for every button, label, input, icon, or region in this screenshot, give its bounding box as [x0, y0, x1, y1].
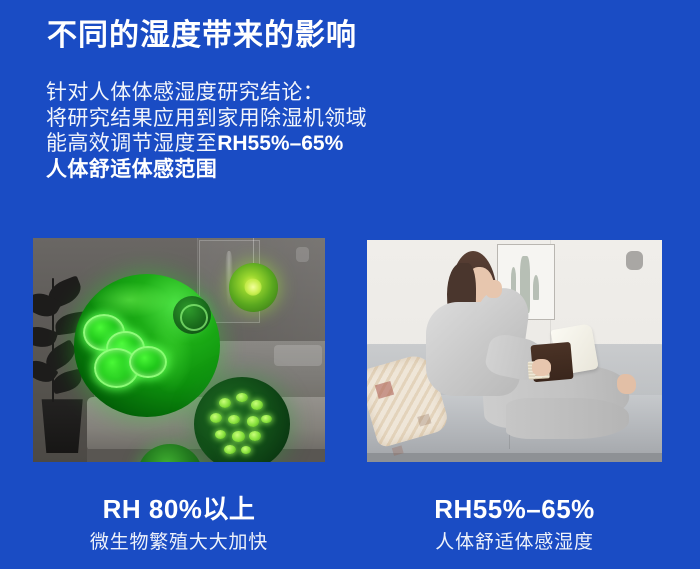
hand-holding-book: [532, 359, 551, 375]
intro-line-1: 针对人体体感湿度研究结论：: [46, 80, 506, 106]
caption-main-comfort-humidity: RH55%–65%: [367, 494, 662, 524]
dark-living-room-scene: [33, 238, 325, 462]
caption-comfort-humidity: RH55%–65% 人体舒适体感湿度: [367, 494, 662, 554]
foot: [617, 374, 636, 394]
lower-leg: [506, 398, 629, 439]
sofa-cushion: [274, 345, 322, 366]
pendant-cord: [253, 238, 254, 265]
humidity-infographic-poster: 不同的湿度带来的影响 针对人体体感湿度研究结论： 将研究结果应用到家用除湿机领域…: [0, 0, 700, 569]
intro-line-2: 将研究结果应用到家用除湿机领域: [46, 106, 506, 132]
hand-at-head: [485, 280, 502, 298]
bright-living-room-scene: [367, 240, 662, 462]
caption-high-humidity: RH 80%以上 微生物繁殖大大加快: [33, 494, 325, 554]
virus-sphere-spiked: [194, 377, 290, 462]
intro-line-3: 能高效调节湿度至RH55%–65%: [46, 131, 506, 157]
caption-sub-high-humidity: 微生物繁殖大大加快: [33, 531, 325, 554]
intro-line-4: 人体舒适体感范围: [46, 157, 506, 183]
wall-switch: [296, 247, 309, 262]
microbe-sphere-large: [74, 274, 220, 417]
intro-line-3-highlight: RH55%–65%: [217, 132, 343, 155]
caption-sub-comfort-humidity: 人体舒适体感湿度: [367, 531, 662, 554]
panel-image-high-humidity: [33, 238, 325, 462]
woman-reading: [402, 251, 638, 455]
microbe-sphere-small: [229, 263, 279, 312]
intro-line-3-normal: 能高效调节湿度至: [46, 132, 217, 155]
panel-image-comfort-humidity: [367, 240, 662, 462]
page-title: 不同的湿度带来的影响: [47, 17, 357, 55]
caption-main-high-humidity: RH 80%以上: [33, 494, 325, 524]
intro-paragraph: 针对人体体感湿度研究结论： 将研究结果应用到家用除湿机领域 能高效调节湿度至RH…: [46, 80, 506, 182]
